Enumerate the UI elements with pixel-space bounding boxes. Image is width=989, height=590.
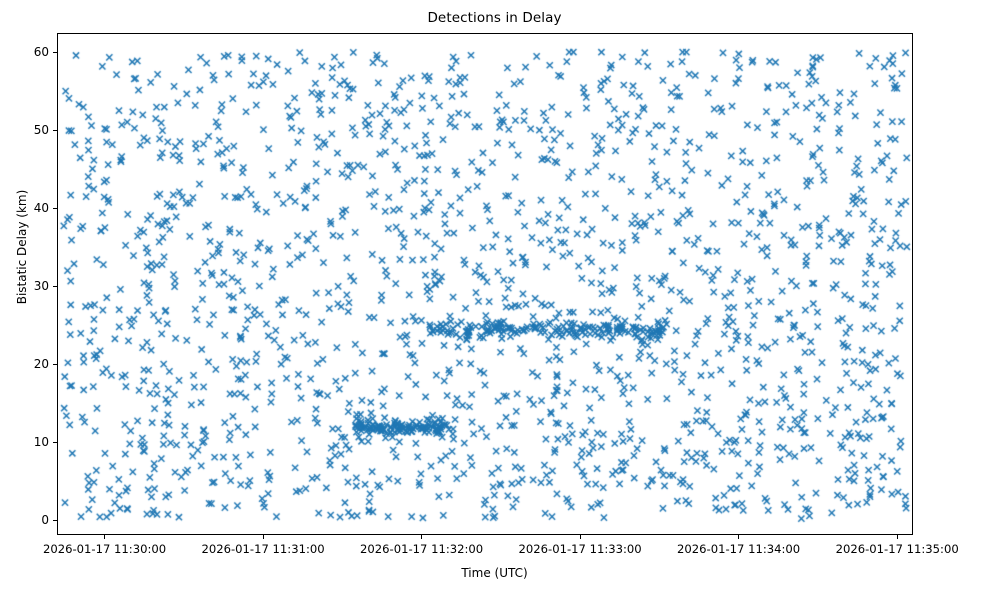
x-tick-mark	[897, 535, 898, 539]
scatter-points-layer	[58, 34, 913, 535]
y-tick-label: 50	[34, 123, 49, 137]
x-tick-label: 2026-01-17 11:31:00	[201, 542, 324, 556]
x-tick-label: 2026-01-17 11:32:00	[360, 542, 483, 556]
x-tick-label: 2026-01-17 11:34:00	[677, 542, 800, 556]
y-tick-label: 20	[34, 357, 49, 371]
x-tick-mark	[104, 535, 105, 539]
plot-area	[57, 33, 913, 535]
y-tick-label: 30	[34, 279, 49, 293]
chart-title: Detections in Delay	[0, 10, 989, 26]
x-tick-mark	[580, 535, 581, 539]
y-tick-label: 40	[34, 201, 49, 215]
matplotlib-figure: Detections in Delay Bistatic Delay (km) …	[0, 0, 989, 590]
x-tick-mark	[421, 535, 422, 539]
y-tick-label: 60	[34, 45, 49, 59]
x-tick-label: 2026-01-17 11:33:00	[519, 542, 642, 556]
x-tick-mark	[738, 535, 739, 539]
y-axis-label: Bistatic Delay (km)	[15, 117, 29, 377]
x-tick-label: 2026-01-17 11:35:00	[836, 542, 959, 556]
x-tick-mark	[263, 535, 264, 539]
x-tick-label: 2026-01-17 11:30:00	[43, 542, 166, 556]
x-axis-label: Time (UTC)	[0, 566, 989, 580]
y-tick-label: 10	[34, 435, 49, 449]
y-tick-label: 0	[41, 513, 49, 527]
